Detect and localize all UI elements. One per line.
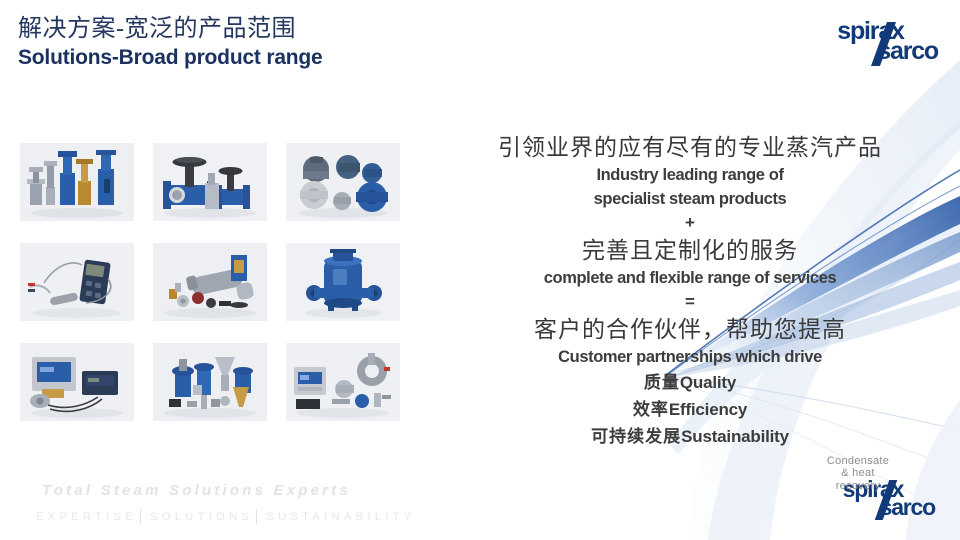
message-line-1: 引领业界的应有尽有的专业蒸汽产品 xyxy=(480,132,900,163)
product-image-heat-exchanger-package xyxy=(153,243,267,321)
product-image-control-valves xyxy=(153,343,267,421)
product-image-level-controllers xyxy=(20,343,134,421)
product-image-safety-relief-valves xyxy=(20,143,134,221)
brand-logo-header: spirax sarco xyxy=(833,20,938,63)
slide-canvas: 解决方案-宽泛的产品范围 Solutions-Broad product ran… xyxy=(0,0,960,540)
caption-line-1: Condensate xyxy=(827,455,889,467)
footer-pillar-expertise: EXPERTISE xyxy=(36,511,137,523)
footer-tagline: Total Steam Solutions Experts xyxy=(42,482,351,499)
product-row-3 xyxy=(20,343,400,421)
caption-line-3: recovery xyxy=(836,480,881,492)
footer-divider-1 xyxy=(140,509,141,524)
value-quality-en: Quality xyxy=(680,373,736,392)
product-row-1 xyxy=(20,143,400,221)
product-image-handheld-test-meter xyxy=(20,243,134,321)
message-line-3: specialist steam products xyxy=(480,187,900,211)
footer-divider-2 xyxy=(256,509,257,524)
value-sustainability-cn: 可持续发展 xyxy=(591,427,681,446)
page-title-english: Solutions-Broad product range xyxy=(18,45,323,71)
message-line-2: Industry leading range of xyxy=(480,163,900,187)
value-efficiency-cn: 效率 xyxy=(633,400,669,419)
value-sustainability-en: Sustainability xyxy=(681,427,789,446)
message-line-6: complete and flexible range of services xyxy=(480,266,900,290)
message-value-sustainability: 可持续发展Sustainability xyxy=(480,423,900,450)
message-line-5: 完善且定制化的服务 xyxy=(480,235,900,266)
message-block: 引领业界的应有尽有的专业蒸汽产品 Industry leading range … xyxy=(480,132,900,450)
message-value-efficiency: 效率Efficiency xyxy=(480,396,900,423)
footer-pillar-sustainability: SUSTAINABILITY xyxy=(266,511,415,523)
footer-pillar-solutions: SOLUTIONS xyxy=(150,511,253,523)
value-quality-cn: 质量 xyxy=(644,373,680,392)
value-efficiency-en: Efficiency xyxy=(669,400,747,419)
message-line-8: 客户的合作伙伴，帮助您提高 xyxy=(480,314,900,345)
page-title: 解决方案-宽泛的产品范围 Solutions-Broad product ran… xyxy=(18,14,323,71)
condensate-heat-recovery-caption: Condensate & heat recovery xyxy=(798,455,918,493)
message-value-quality: 质量Quality xyxy=(480,369,900,396)
product-image-steam-traps xyxy=(286,143,400,221)
message-equals-operator: = xyxy=(480,290,900,314)
product-image-flow-metering-systems xyxy=(286,343,400,421)
message-plus-operator: + xyxy=(480,211,900,235)
caption-line-2: & heat xyxy=(841,467,875,479)
page-title-chinese: 解决方案-宽泛的产品范围 xyxy=(18,14,323,44)
product-row-2 xyxy=(20,243,400,321)
product-image-grid xyxy=(20,143,400,443)
footer-pillars: EXPERTISE SOLUTIONS SUSTAINABILITY xyxy=(36,509,416,524)
product-image-condensate-recovery-vessel xyxy=(286,243,400,321)
product-image-globe-gate-valves xyxy=(153,143,267,221)
message-line-9: Customer partnerships which drive xyxy=(480,345,900,369)
